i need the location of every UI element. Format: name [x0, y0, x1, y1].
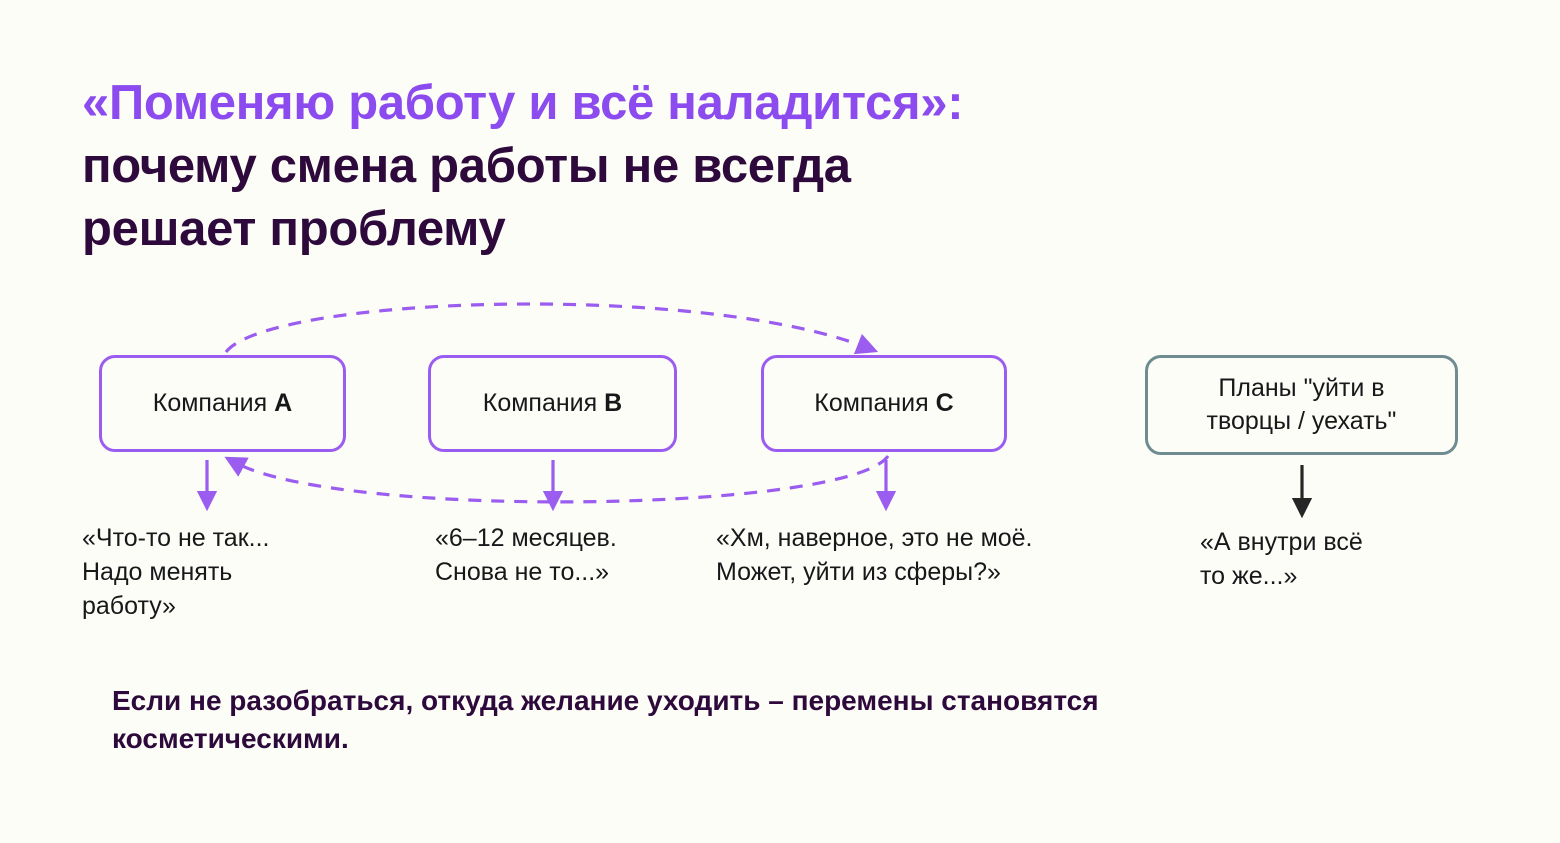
caption-plans-escape: «А внутри всё то же...»: [1200, 525, 1480, 593]
page-title: «Поменяю работу и всё наладится»: почему…: [82, 72, 1382, 261]
caption-company-c: «Хм, наверное, это не моё. Может, уйти и…: [716, 521, 1146, 589]
footer-conclusion: Если не разобраться, откуда желание уход…: [112, 682, 1432, 758]
node-company-c[interactable]: Компания C: [761, 355, 1007, 452]
node-company-b-label: Компания B: [483, 387, 622, 420]
dashed-arc-c-to-a: [234, 456, 888, 502]
dashed-arc-a-to-c: [226, 304, 868, 352]
node-plans-escape[interactable]: Планы "уйти в творцы / уехать": [1145, 355, 1458, 455]
caption-company-a: «Что-то не так... Надо менять работу»: [82, 521, 382, 623]
caption-company-b: «6–12 месяцев. Снова не то...»: [435, 521, 725, 589]
node-company-b[interactable]: Компания B: [428, 355, 677, 452]
node-company-a[interactable]: Компания A: [99, 355, 346, 452]
node-company-a-label: Компания A: [153, 387, 292, 420]
node-plans-escape-label: Планы "уйти в творцы / уехать": [1207, 372, 1397, 438]
node-company-c-label: Компания C: [814, 387, 953, 420]
title-line-accent: «Поменяю работу и всё наладится»:: [82, 72, 1382, 135]
title-line-2: почему смена работы не всегда: [82, 135, 1382, 198]
slide-canvas: «Поменяю работу и всё наладится»: почему…: [0, 0, 1560, 843]
title-line-3: решает проблему: [82, 198, 1382, 261]
